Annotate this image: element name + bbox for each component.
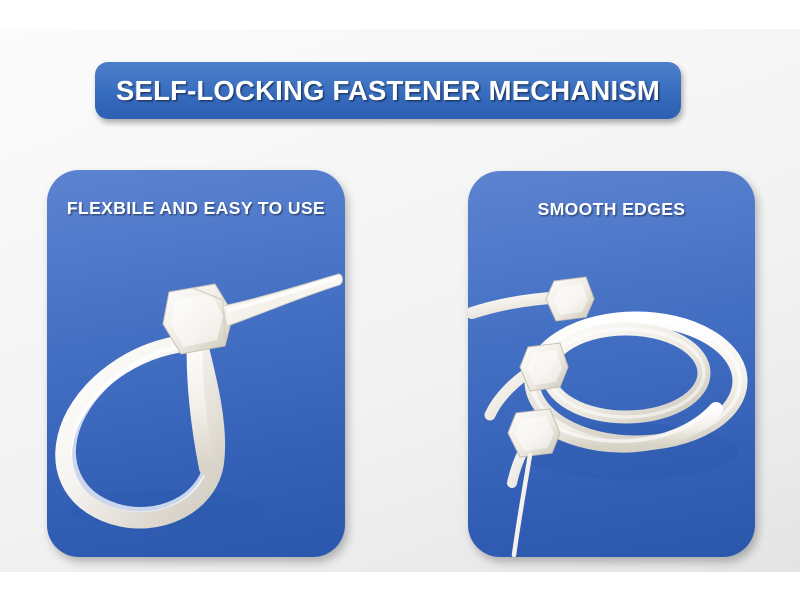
single-cable-tie-loop-photo	[47, 270, 345, 557]
feature-panel-flexible: FLEXBILE AND EASY TO USE	[47, 170, 345, 557]
page-title: SELF-LOCKING FASTENER MECHANISM	[116, 75, 660, 107]
cable-tie-loop-illustration	[47, 270, 345, 557]
panel-heading-flexible: FLEXBILE AND EASY TO USE	[47, 198, 345, 219]
coiled-cable-ties-photo	[468, 269, 755, 557]
slide-root: SELF-LOCKING FASTENER MECHANISM FLEXBILE…	[0, 0, 800, 600]
coiled-cable-ties-illustration	[468, 269, 755, 557]
slide-title-banner: SELF-LOCKING FASTENER MECHANISM	[95, 62, 681, 119]
feature-panel-smooth-edges: SMOOTH EDGES	[468, 171, 755, 557]
panel-heading-smooth-edges: SMOOTH EDGES	[468, 199, 755, 220]
